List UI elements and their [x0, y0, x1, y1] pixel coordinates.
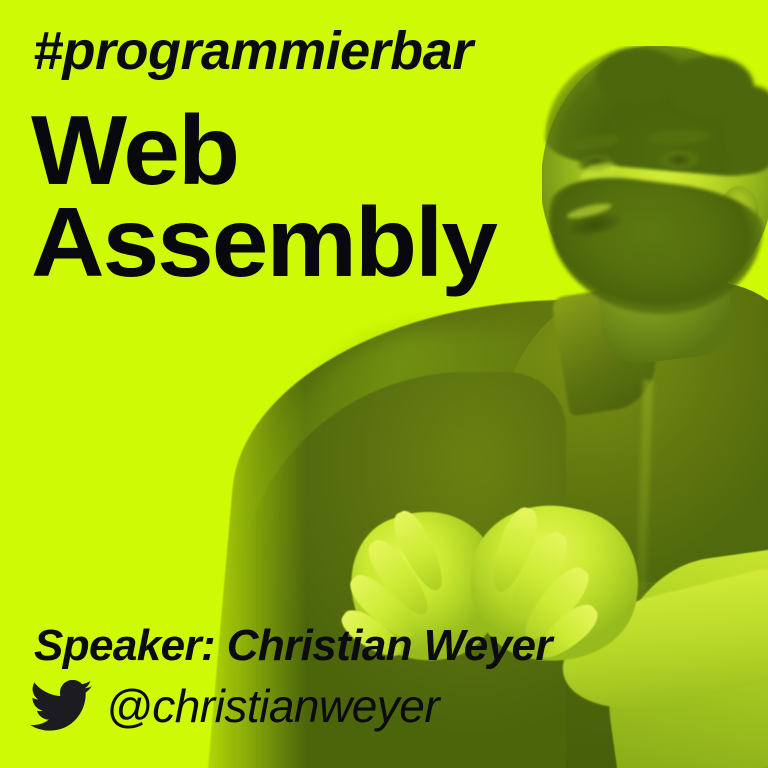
twitter-handle-row: @christianweyer — [30, 680, 439, 732]
podcast-hashtag: #programmierbar — [33, 24, 473, 78]
podcast-episode-cover: #programmierbar Web Assembly Speaker: Ch… — [0, 0, 768, 768]
cover-text-layer: #programmierbar Web Assembly Speaker: Ch… — [0, 0, 768, 768]
speaker-line: Speaker: Christian Weyer — [34, 624, 552, 668]
episode-title: Web Assembly — [31, 104, 496, 288]
twitter-bird-icon — [30, 680, 92, 732]
twitter-handle-text: @christianweyer — [106, 683, 439, 729]
